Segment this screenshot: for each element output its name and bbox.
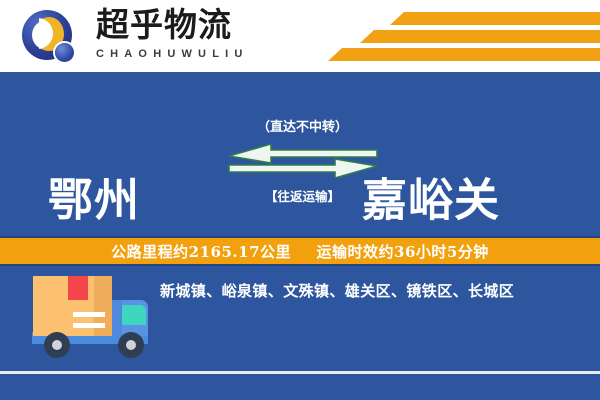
stripe-shape-1 [390, 12, 600, 25]
poster-header: 超乎物流 CHAOHUWULIU [0, 0, 600, 72]
logo-dot-shape [55, 43, 74, 62]
route-middle-group: （直达不中转） 【往返运输】 [225, 116, 380, 226]
coverage-districts-label: 新城镇、峪泉镇、文殊镇、雄关区、镜铁区、长城区 [160, 280, 586, 302]
stripe-shape-2 [360, 30, 600, 43]
truck-cargo-tape-shape [68, 276, 88, 300]
roundtrip-transport-tag: 【往返运输】 [225, 186, 380, 205]
direct-transport-tag: （直达不中转） [225, 116, 380, 135]
logistics-route-poster: 超乎物流 CHAOHUWULIU 鄂州 （直达不中转） 【往返运输】 嘉峪关 [0, 0, 600, 400]
truck-cargo-line-1-shape [73, 312, 105, 317]
truck-cargo-line-2-shape [73, 323, 105, 328]
orange-stripes-icon [280, 6, 600, 68]
destination-city-label: 嘉峪关 [362, 178, 500, 223]
origin-city-label: 鄂州 [48, 178, 140, 223]
chaohu-circle-logo-icon [22, 10, 78, 66]
route-banner: 鄂州 （直达不中转） 【往返运输】 嘉峪关 [0, 72, 600, 236]
brand-name-cn: 超乎物流 [96, 6, 296, 44]
truck-rear-wheel-shape [44, 332, 70, 358]
info-bar-text-group: 公路里程约2165.17公里 运输时效约36小时5分钟 [111, 241, 489, 262]
truck-front-wheel-shape [118, 332, 144, 358]
duration-label: 运输时效约36小时5分钟 [317, 243, 489, 261]
bidirectional-arrow-icon [227, 144, 379, 178]
delivery-truck-icon [18, 274, 158, 374]
stripe-shape-3 [328, 48, 600, 61]
brand-block: 超乎物流 CHAOHUWULIU [96, 6, 296, 62]
coverage-section: 新城镇、峪泉镇、文殊镇、雄关区、镜铁区、长城区 [0, 266, 600, 400]
distance-label: 公路里程约2165.17公里 [111, 243, 291, 261]
brand-name-en: CHAOHUWULIU [96, 46, 296, 62]
route-info-bar: 公路里程约2165.17公里 运输时效约36小时5分钟 [0, 236, 600, 266]
road-line-icon [0, 371, 600, 374]
truck-window-shape [122, 305, 146, 325]
